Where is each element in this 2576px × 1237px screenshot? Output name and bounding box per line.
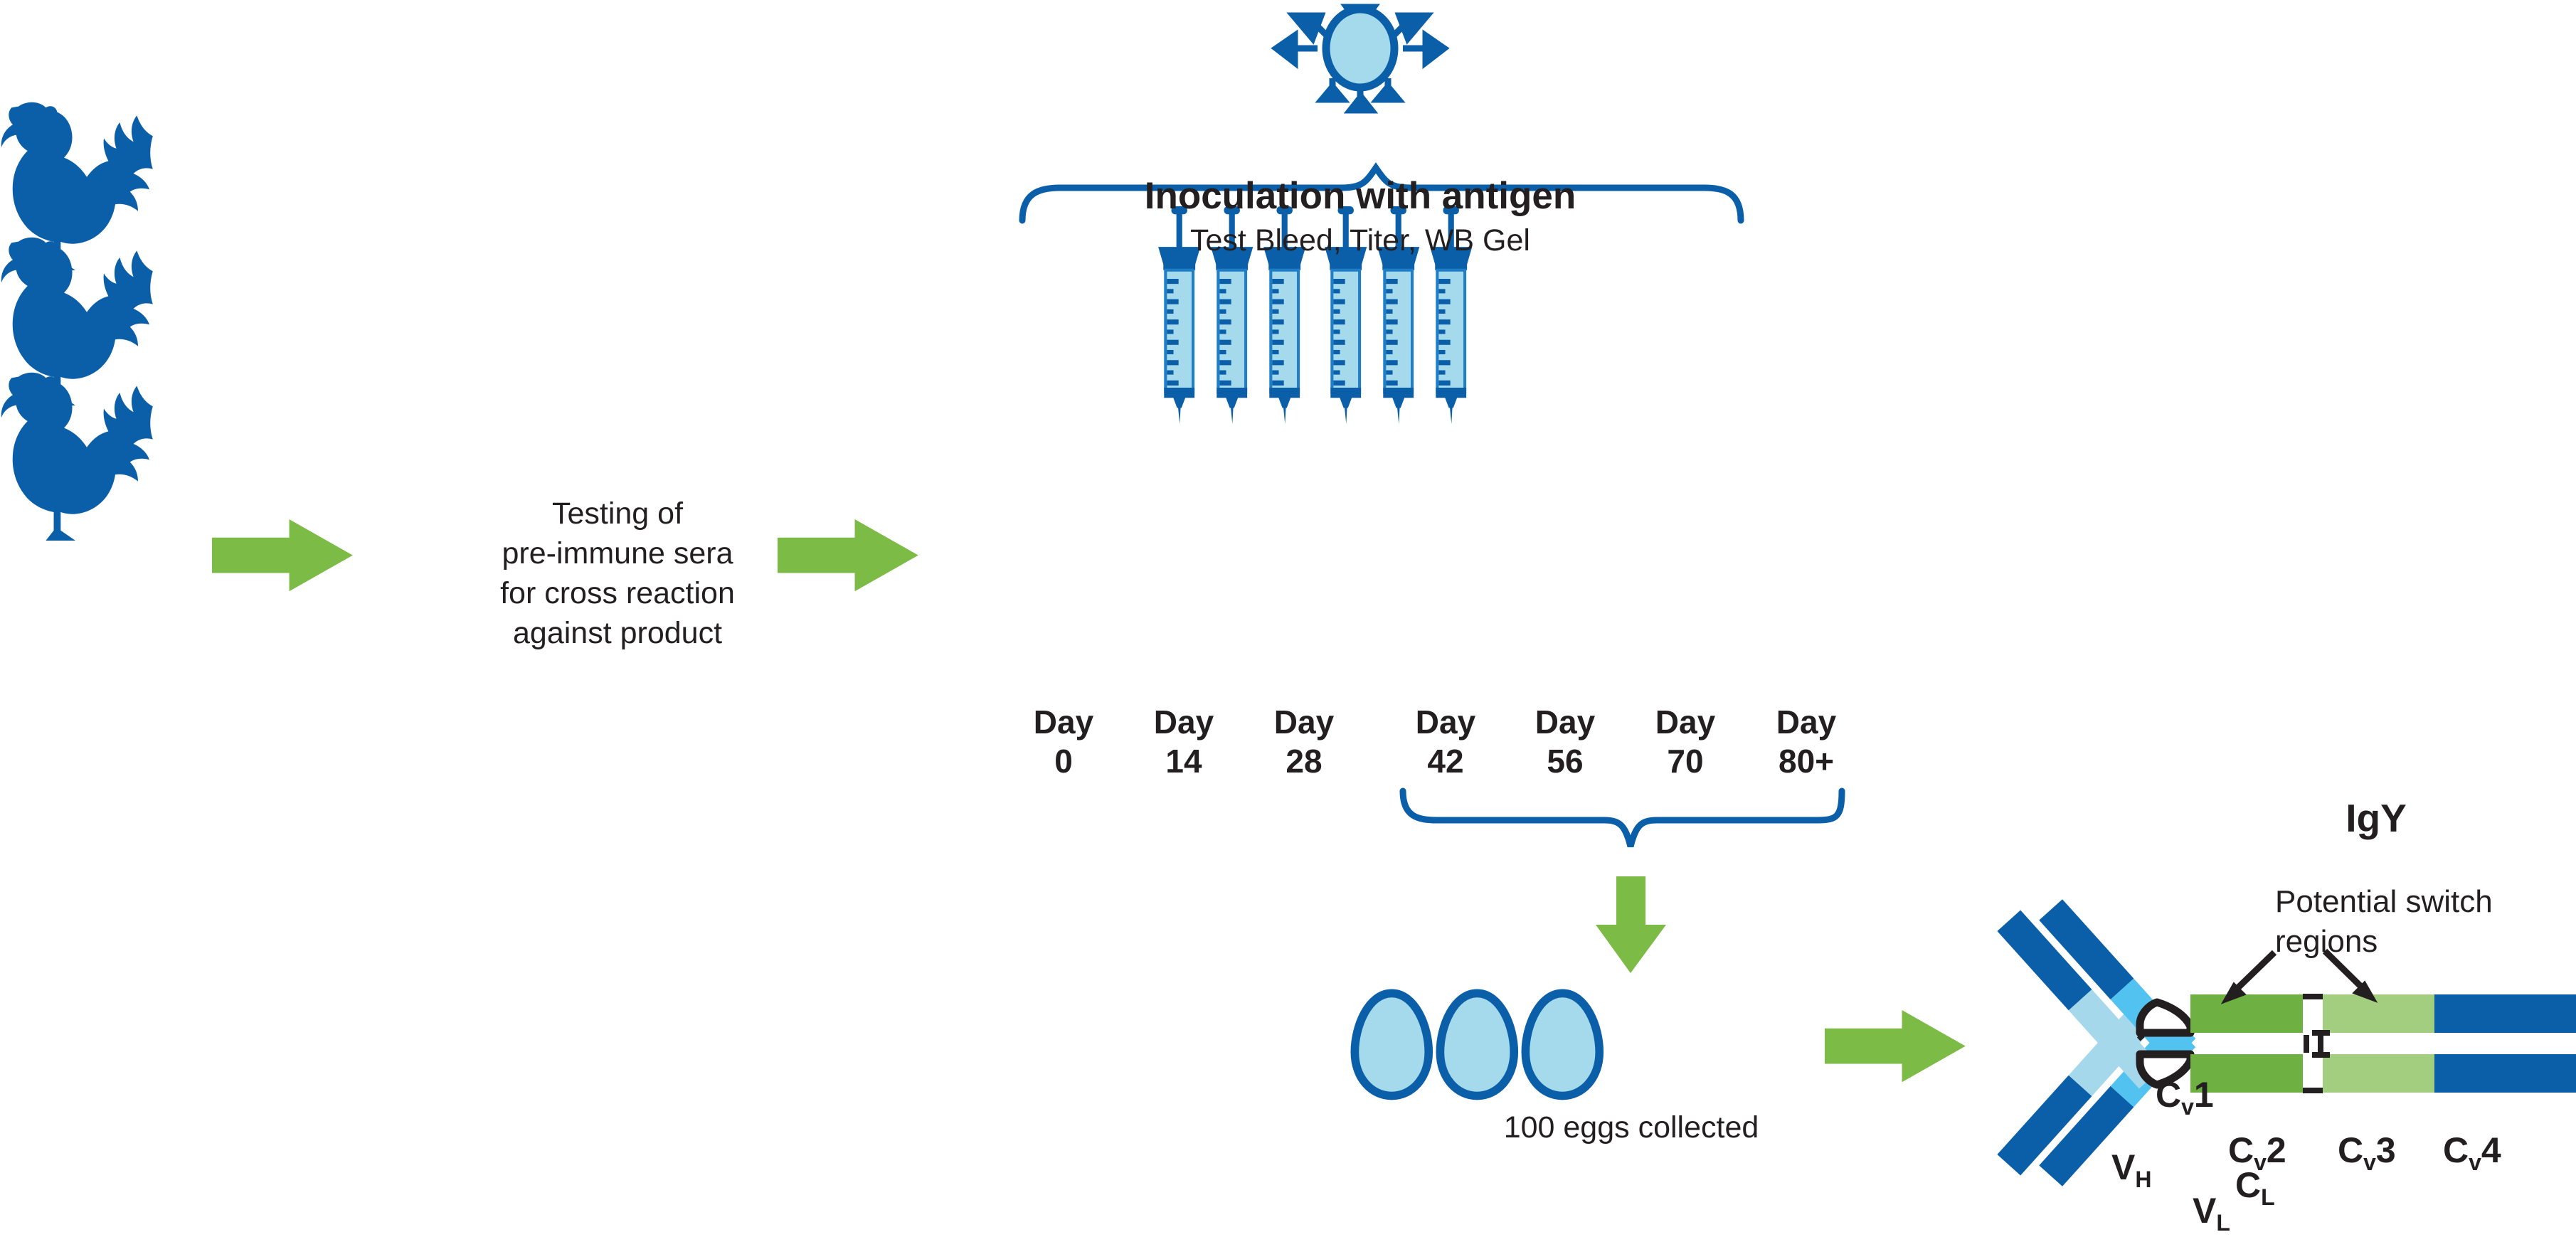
label-cl-sub: L <box>2261 1184 2275 1210</box>
label-cv1-sub: v <box>2181 1094 2194 1120</box>
chicken-group <box>1 102 153 541</box>
cv4-upper <box>2434 994 2576 1033</box>
day-label-0-top: Day <box>1034 703 1093 741</box>
day-label-80-value: 80+ <box>1779 742 1834 780</box>
label-vh-main: V <box>2111 1147 2135 1187</box>
day-label-28-value: 28 <box>1286 742 1322 780</box>
switch-gap-upper <box>2303 994 2323 1033</box>
eggs-caption: 100 eggs collected <box>1504 1110 1759 1146</box>
switch-region-annotation-line-1: Potential switch <box>2275 883 2493 920</box>
cv2-upper <box>2190 994 2303 1033</box>
day-label-0-value: 0 <box>1054 742 1073 780</box>
flow-arrow-2 <box>778 519 918 591</box>
egg-group <box>1355 993 1599 1095</box>
label-vl: VL <box>2193 1190 2230 1237</box>
cv3-upper <box>2323 994 2434 1033</box>
upper-hinge <box>2140 1002 2190 1033</box>
label-vh-sub: H <box>2135 1167 2151 1192</box>
switch-disulfide-bonds <box>2306 1033 2330 1055</box>
label-cv1-main: C <box>2156 1075 2181 1115</box>
label-cv4-sub: v <box>2469 1150 2481 1175</box>
label-cv3-sub: v <box>2363 1150 2376 1175</box>
label-vh: VH <box>2111 1147 2151 1194</box>
day-label-70-top: Day <box>1655 703 1715 741</box>
day-label-56-top: Day <box>1535 703 1595 741</box>
day-label-14-value: 14 <box>1165 742 1202 780</box>
label-cv4-main: C <box>2443 1130 2469 1170</box>
fc-lower-strand <box>2190 1054 2576 1093</box>
flow-arrow-3 <box>1825 1010 1966 1082</box>
antigen-subheading: Test Bleed, Titer, WB Gel <box>1190 223 1530 259</box>
cv3-lower <box>2323 1054 2434 1093</box>
day-label-28-top: Day <box>1274 703 1334 741</box>
flow-arrow-down <box>1596 876 1666 973</box>
day-label-70-value: 70 <box>1667 742 1703 780</box>
label-cv4-num: 4 <box>2481 1130 2501 1170</box>
egg-icon <box>1440 993 1514 1095</box>
egg-icon <box>1355 993 1429 1095</box>
igy-title: IgY <box>2346 795 2407 842</box>
label-cv3-main: C <box>2338 1130 2363 1170</box>
label-vl-sub: L <box>2216 1210 2230 1236</box>
virus-particle-icon <box>1276 6 1444 110</box>
testing-step-line-4: against product <box>513 615 722 652</box>
testing-step-line-1: Testing of <box>552 496 683 532</box>
cv4-lower <box>2434 1054 2576 1093</box>
egg-icon <box>1525 993 1599 1095</box>
label-cv2-main: C <box>2228 1130 2254 1170</box>
day-label-80-top: Day <box>1776 703 1836 741</box>
label-cv3: Cv3 <box>2338 1130 2396 1177</box>
label-cv2-num: 2 <box>2267 1130 2286 1170</box>
day-label-42-value: 42 <box>1427 742 1463 780</box>
chicken-silhouette-icon <box>1 373 153 541</box>
day-label-42-top: Day <box>1416 703 1475 741</box>
switch-gap-lower <box>2303 1054 2323 1093</box>
label-vl-main: V <box>2193 1191 2216 1231</box>
label-cv1-num: 1 <box>2194 1075 2214 1115</box>
diagram-canvas: Inoculation with antigen Test Bleed, Tit… <box>0 0 2576 1227</box>
label-cv3-num: 3 <box>2376 1130 2396 1170</box>
testing-step-line-3: for cross reaction <box>500 575 735 612</box>
antigen-heading: Inoculation with antigen <box>1145 174 1576 219</box>
day-label-56-value: 56 <box>1547 742 1583 780</box>
day-label-14-top: Day <box>1154 703 1214 741</box>
flow-arrow-1 <box>212 519 353 591</box>
fc-upper-strand <box>2190 994 2576 1033</box>
label-cv4: Cv4 <box>2443 1130 2501 1177</box>
bottom-brace <box>1403 791 1842 846</box>
label-cv2-sub: v <box>2254 1150 2267 1175</box>
testing-step-line-2: pre-immune sera <box>502 536 733 572</box>
label-cv2: Cv2 <box>2228 1130 2286 1177</box>
label-cv1: Cv1 <box>2156 1074 2214 1121</box>
switch-region-annotation-line-2: regions <box>2275 923 2378 960</box>
